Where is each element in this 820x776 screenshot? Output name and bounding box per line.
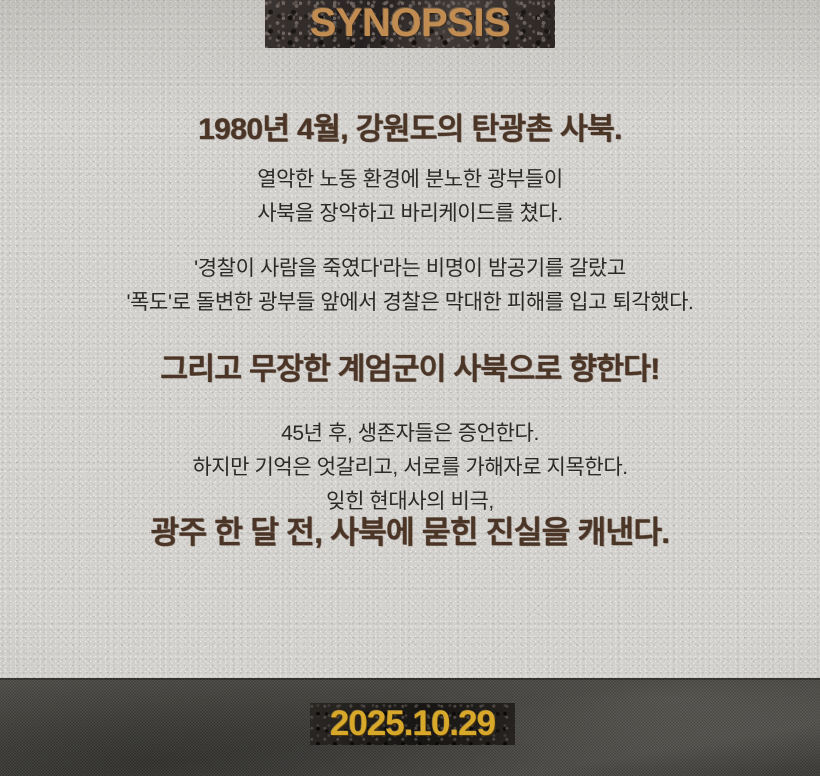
synopsis-paragraph-1-block: 열악한 노동 환경에 분노한 광부들이 사북을 장악하고 바리케이드를 쳤다. [0,163,820,231]
synopsis-paragraph-2-line-2: '폭도'로 돌변한 광부들 앞에서 경찰은 막대한 피해를 입고 퇴각했다. [0,286,820,320]
synopsis-paragraph-1-line-2: 사북을 장악하고 바리케이드를 쳤다. [0,197,820,231]
synopsis-paragraph-3-line-2: 하지만 기억은 엇갈리고, 서로를 가해자로 지목한다. [0,451,820,485]
synopsis-paragraph-3-block: 45년 후, 생존자들은 증언한다. 하지만 기억은 엇갈리고, 서로를 가해자… [0,417,820,519]
synopsis-paragraph-1-line-1: 열악한 노동 환경에 분노한 광부들이 [0,163,820,197]
synopsis-banner: SYNOPSIS [265,0,555,48]
synopsis-paragraph-3-line-1: 45년 후, 생존자들은 증언한다. [0,417,820,451]
synopsis-headline-3-block: 광주 한 달 전, 사북에 묻힌 진실을 캐낸다. [0,515,820,552]
synopsis-headline-1-block: 1980년 4월, 강원도의 탄광촌 사북. [0,112,820,147]
synopsis-paragraph-2-block: '경찰이 사람을 죽였다'라는 비명이 밤공기를 갈랐고 '폭도'로 돌변한 광… [0,252,820,320]
release-date-plate: 2025.10.29 [310,703,515,745]
synopsis-headline-2: 그리고 무장한 계엄군이 사북으로 향한다! [0,352,820,387]
synopsis-headline-2-block: 그리고 무장한 계엄군이 사북으로 향한다! [0,352,820,387]
synopsis-banner-title: SYNOPSIS [265,0,555,48]
synopsis-paragraph-2-line-1: '경찰이 사람을 죽였다'라는 비명이 밤공기를 갈랐고 [0,252,820,286]
release-band-top-edge [0,678,820,680]
synopsis-paragraph-3-line-3: 잊힌 현대사의 비극, [0,485,820,519]
synopsis-headline-1: 1980년 4월, 강원도의 탄광촌 사북. [0,112,820,147]
release-date-text: 2025.10.29 [310,703,515,745]
synopsis-headline-3: 광주 한 달 전, 사북에 묻힌 진실을 캐낸다. [0,515,820,552]
release-date-band: 2025.10.29 [0,678,820,776]
synopsis-page: SYNOPSIS 1980년 4월, 강원도의 탄광촌 사북. 열악한 노동 환… [0,0,820,776]
